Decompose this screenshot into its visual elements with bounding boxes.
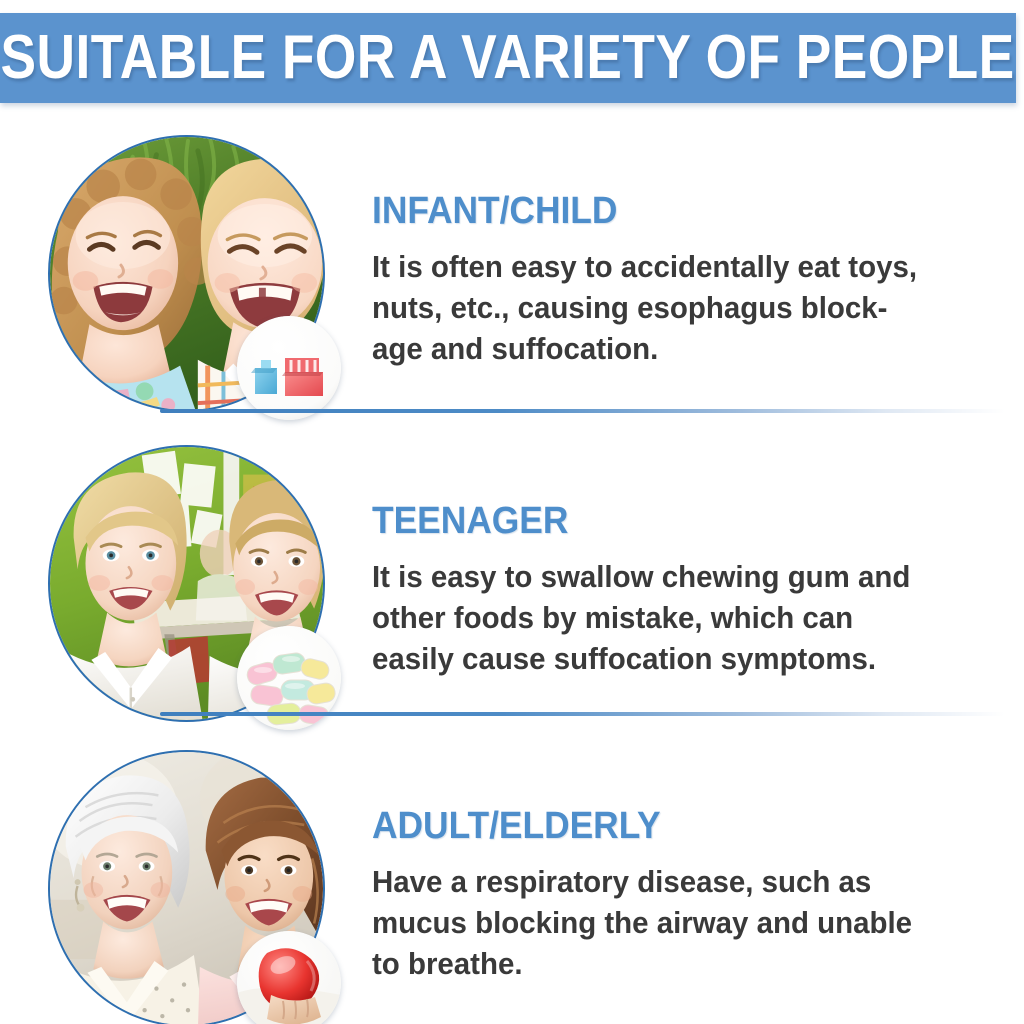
heading-adult-elderly: ADULT/ELDERLY xyxy=(372,807,949,847)
body-line: easily cause suffocation symptoms. xyxy=(372,638,980,679)
heading-teenager: TEENAGER xyxy=(372,502,949,542)
inset-red-device xyxy=(237,931,341,1024)
heading-infant-child: INFANT/CHILD xyxy=(372,192,949,232)
photo-teenager xyxy=(48,445,325,722)
photo-adult-elderly xyxy=(48,750,325,1024)
body-line: to breathe. xyxy=(372,943,980,984)
body-line: nuts, etc., causing esophagus block- xyxy=(372,287,980,328)
inset-toy-blocks xyxy=(237,316,341,420)
section-teenager: TEENAGER It is easy to swallow chewing g… xyxy=(0,440,1024,730)
section-divider-1 xyxy=(160,409,1005,413)
body-line: Have a respiratory disease, such as xyxy=(372,861,980,902)
page-title: SUITABLE FOR A VARIETY OF PEOPLE xyxy=(1,27,1015,89)
body-line: age and suffocation. xyxy=(372,328,980,369)
body-line: It is often easy to accidentally eat toy… xyxy=(372,246,980,287)
section-divider-2 xyxy=(160,712,1005,716)
body-line: It is easy to swallow chewing gum and xyxy=(372,556,980,597)
text-block-adult-elderly: ADULT/ELDERLY Have a respiratory disease… xyxy=(372,807,992,985)
body-infant-child: It is often easy to accidentally eat toy… xyxy=(372,246,980,370)
text-block-infant-child: INFANT/CHILD It is often easy to acciden… xyxy=(372,192,992,370)
header-banner: SUITABLE FOR A VARIETY OF PEOPLE xyxy=(0,13,1016,103)
body-line: other foods by mistake, which can xyxy=(372,597,980,638)
body-adult-elderly: Have a respiratory disease, such as mucu… xyxy=(372,861,980,985)
section-adult-elderly: ADULT/ELDERLY Have a respiratory disease… xyxy=(0,745,1024,1024)
infographic-poster: SUITABLE FOR A VARIETY OF PEOPLE xyxy=(0,0,1024,1024)
section-infant-child: INFANT/CHILD It is often easy to acciden… xyxy=(0,130,1024,420)
text-block-teenager: TEENAGER It is easy to swallow chewing g… xyxy=(372,502,992,680)
body-teenager: It is easy to swallow chewing gum and ot… xyxy=(372,556,980,680)
body-line: mucus blocking the airway and unable xyxy=(372,902,980,943)
photo-infant-child xyxy=(48,135,325,412)
